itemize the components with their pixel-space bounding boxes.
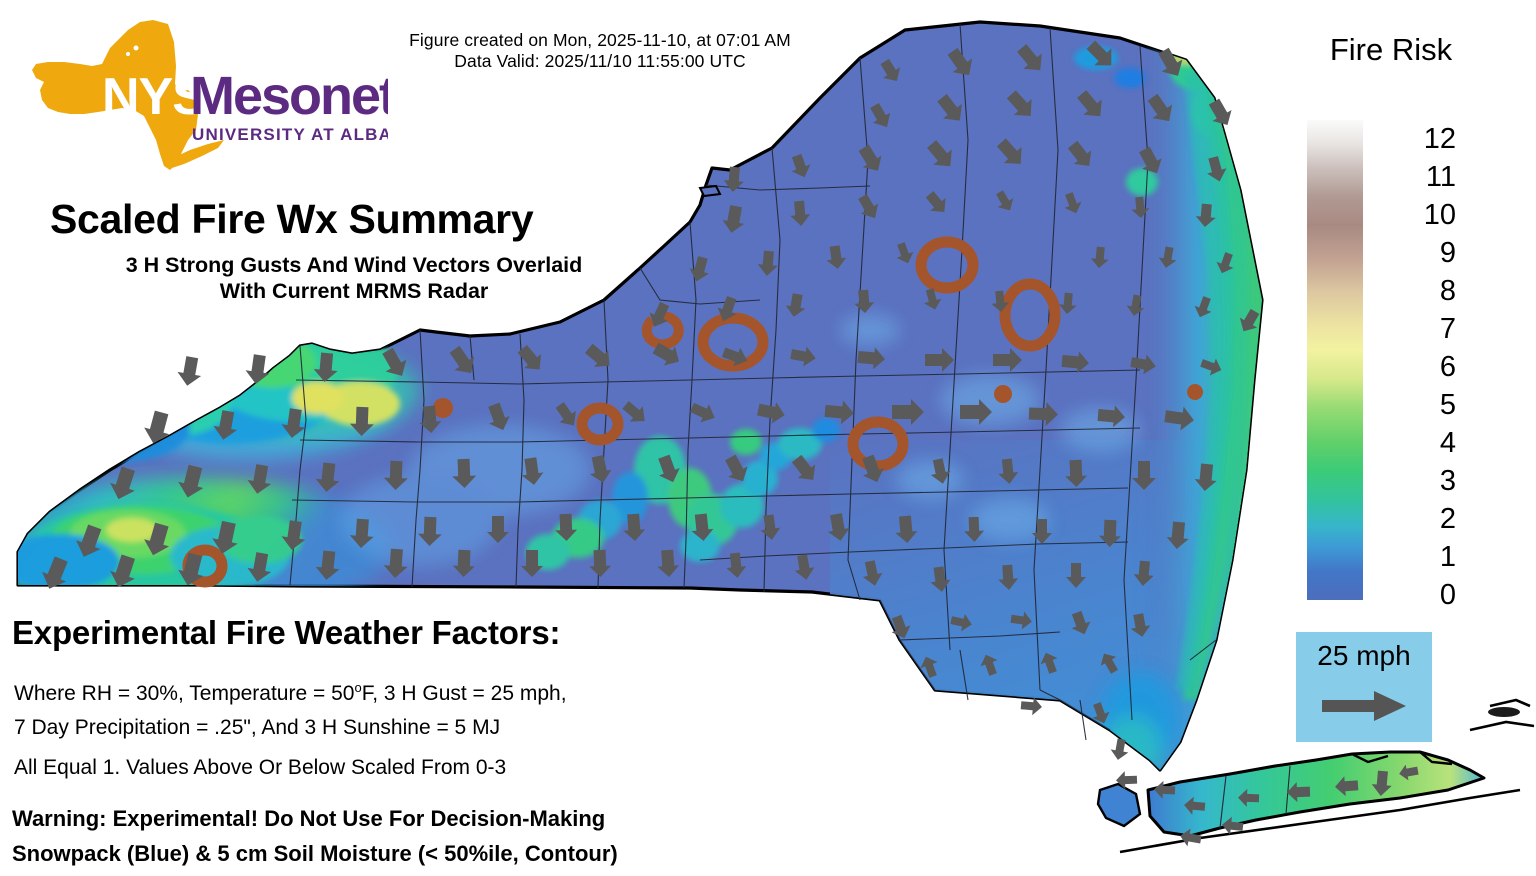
- factors-line-3: All Equal 1. Values Above Or Below Scale…: [14, 756, 506, 780]
- wind-legend-label: 25 mph: [1296, 640, 1432, 672]
- nyc-area: [1098, 784, 1140, 826]
- colorbar-tick-8: 8: [1398, 277, 1456, 306]
- figure-created-line: Figure created on Mon, 2025-11-10, at 07…: [330, 30, 870, 51]
- colorbar-tick-10: 10: [1398, 201, 1456, 230]
- factors-line-1a: Where RH = 30%, Temperature = 50: [14, 682, 354, 705]
- colorbar-tick-9: 9: [1398, 239, 1456, 268]
- wind-speed-legend: 25 mph: [1296, 632, 1432, 742]
- colorbar-tick-11: 11: [1398, 163, 1456, 192]
- fire-risk-colorbar: [1307, 120, 1363, 600]
- colorbar-tick-4: 4: [1398, 429, 1456, 458]
- page-subtitle: 3 H Strong Gusts And Wind Vectors Overla…: [34, 252, 674, 304]
- colorbar-tick-6: 6: [1398, 353, 1456, 382]
- colorbar-title: Fire Risk: [1296, 32, 1486, 68]
- colorbar-tick-5: 5: [1398, 391, 1456, 420]
- data-valid-line: Data Valid: 2025/11/10 11:55:00 UTC: [330, 51, 870, 72]
- factors-heading: Experimental Fire Weather Factors:: [12, 614, 560, 652]
- colorbar-tick-2: 2: [1398, 505, 1456, 534]
- warning-line-2: Snowpack (Blue) & 5 cm Soil Moisture (< …: [12, 841, 618, 867]
- wind-arrow-icon: [1322, 690, 1408, 722]
- subtitle-line-1: 3 H Strong Gusts And Wind Vectors Overla…: [34, 252, 674, 278]
- factors-line-2: 7 Day Precipitation = .25", And 3 H Suns…: [14, 716, 500, 740]
- degree-superscript: o: [354, 680, 361, 695]
- page-title: Scaled Fire Wx Summary: [50, 196, 533, 243]
- subtitle-line-2: With Current MRMS Radar: [34, 278, 674, 304]
- logo-mesonet-text: Mesonet: [190, 66, 388, 126]
- colorbar-tick-1: 1: [1398, 543, 1456, 572]
- colorbar-tick-3: 3: [1398, 467, 1456, 496]
- factors-line-1b: F, 3 H Gust = 25 mph,: [362, 682, 567, 705]
- logo-university-text: UNIVERSITY AT ALBANY: [192, 125, 388, 144]
- colorbar-tick-7: 7: [1398, 315, 1456, 344]
- colorbar-tick-12: 12: [1398, 125, 1456, 154]
- factors-line-1: Where RH = 30%, Temperature = 50oF, 3 H …: [14, 676, 567, 706]
- colorbar-tick-0: 0: [1398, 581, 1456, 610]
- warning-line-1: Warning: Experimental! Do Not Use For De…: [12, 806, 605, 832]
- timestamp-block: Figure created on Mon, 2025-11-10, at 07…: [330, 30, 870, 72]
